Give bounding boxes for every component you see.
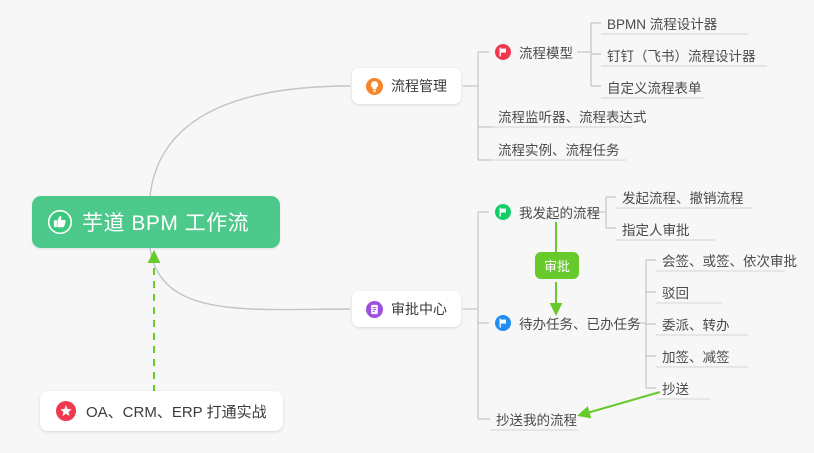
leaf-dingtalk-designer-label: 钉钉（飞书）流程设计器 [607, 45, 756, 65]
leaf-bpmn-designer[interactable]: BPMN 流程设计器 [601, 9, 723, 37]
leaf-add-remove-sign[interactable]: 加签、减签 [656, 342, 736, 370]
leaf-start-cancel-flow-label: 发起流程、撤销流程 [622, 187, 744, 207]
flag-icon-green [495, 204, 511, 220]
mindmap-canvas: 芋道 BPM 工作流 流程管理 审批中心 [0, 0, 814, 453]
arrow-cc-to-ccflow [580, 392, 660, 415]
footer-card-integration[interactable]: OA、CRM、ERP 打通实战 [40, 391, 283, 431]
leaf-assignee-approval[interactable]: 指定人审批 [616, 215, 696, 243]
flag-icon-blue [495, 315, 511, 331]
root-label: 芋道 BPM 工作流 [82, 207, 249, 237]
leaf-cc-label: 抄送 [662, 378, 689, 398]
approval-badge: 审批 [535, 252, 579, 279]
leaf-reject-label: 驳回 [662, 282, 689, 302]
thumbs-up-icon [48, 210, 72, 234]
node-cc-to-me-flows[interactable]: 抄送我的流程 [490, 405, 583, 433]
root-node[interactable]: 芋道 BPM 工作流 [32, 196, 280, 248]
leaf-listener-expression-label: 流程监听器、流程表达式 [498, 106, 647, 126]
node-cc-to-me-flows-label: 抄送我的流程 [496, 409, 577, 429]
link-root-to-process-management [150, 86, 350, 196]
leaf-reject[interactable]: 驳回 [656, 278, 695, 306]
leaf-listener-expression[interactable]: 流程监听器、流程表达式 [492, 102, 653, 130]
link-root-to-approval-center [150, 248, 350, 310]
leaf-start-cancel-flow[interactable]: 发起流程、撤销流程 [616, 183, 750, 211]
node-my-initiated-flows[interactable]: 我发起的流程 [489, 198, 606, 226]
leaf-instance-task-label: 流程实例、流程任务 [498, 139, 620, 159]
branch-process-management[interactable]: 流程管理 [352, 68, 461, 104]
star-icon [56, 401, 76, 421]
approval-badge-label: 审批 [544, 256, 570, 275]
leaf-instance-task[interactable]: 流程实例、流程任务 [492, 135, 626, 163]
flag-icon-red [495, 44, 511, 60]
leaf-delegate-transfer[interactable]: 委派、转办 [656, 310, 736, 338]
node-process-model-label: 流程模型 [519, 42, 573, 62]
leaf-countersign-label: 会签、或签、依次审批 [662, 250, 797, 270]
leaf-dingtalk-designer[interactable]: 钉钉（飞书）流程设计器 [601, 41, 762, 69]
leaf-cc[interactable]: 抄送 [656, 374, 695, 402]
leaf-countersign[interactable]: 会签、或签、依次审批 [656, 246, 803, 274]
node-todo-done-tasks-label: 待办任务、已办任务 [519, 313, 641, 333]
node-my-initiated-flows-label: 我发起的流程 [519, 202, 600, 222]
leaf-add-remove-sign-label: 加签、减签 [662, 346, 730, 366]
leaf-custom-form-label: 自定义流程表单 [607, 77, 702, 97]
node-todo-done-tasks[interactable]: 待办任务、已办任务 [489, 309, 647, 337]
leaf-assignee-approval-label: 指定人审批 [622, 219, 690, 239]
branch-approval-center[interactable]: 审批中心 [352, 291, 461, 327]
footer-card-label: OA、CRM、ERP 打通实战 [86, 401, 267, 422]
node-process-model[interactable]: 流程模型 [489, 38, 579, 66]
leaf-delegate-transfer-label: 委派、转办 [662, 314, 730, 334]
document-icon [366, 301, 383, 318]
branch-approval-center-label: 审批中心 [391, 299, 447, 319]
leaf-bpmn-designer-label: BPMN 流程设计器 [607, 13, 717, 33]
lightbulb-icon [366, 78, 383, 95]
leaf-custom-form[interactable]: 自定义流程表单 [601, 73, 708, 101]
branch-process-management-label: 流程管理 [391, 76, 447, 96]
